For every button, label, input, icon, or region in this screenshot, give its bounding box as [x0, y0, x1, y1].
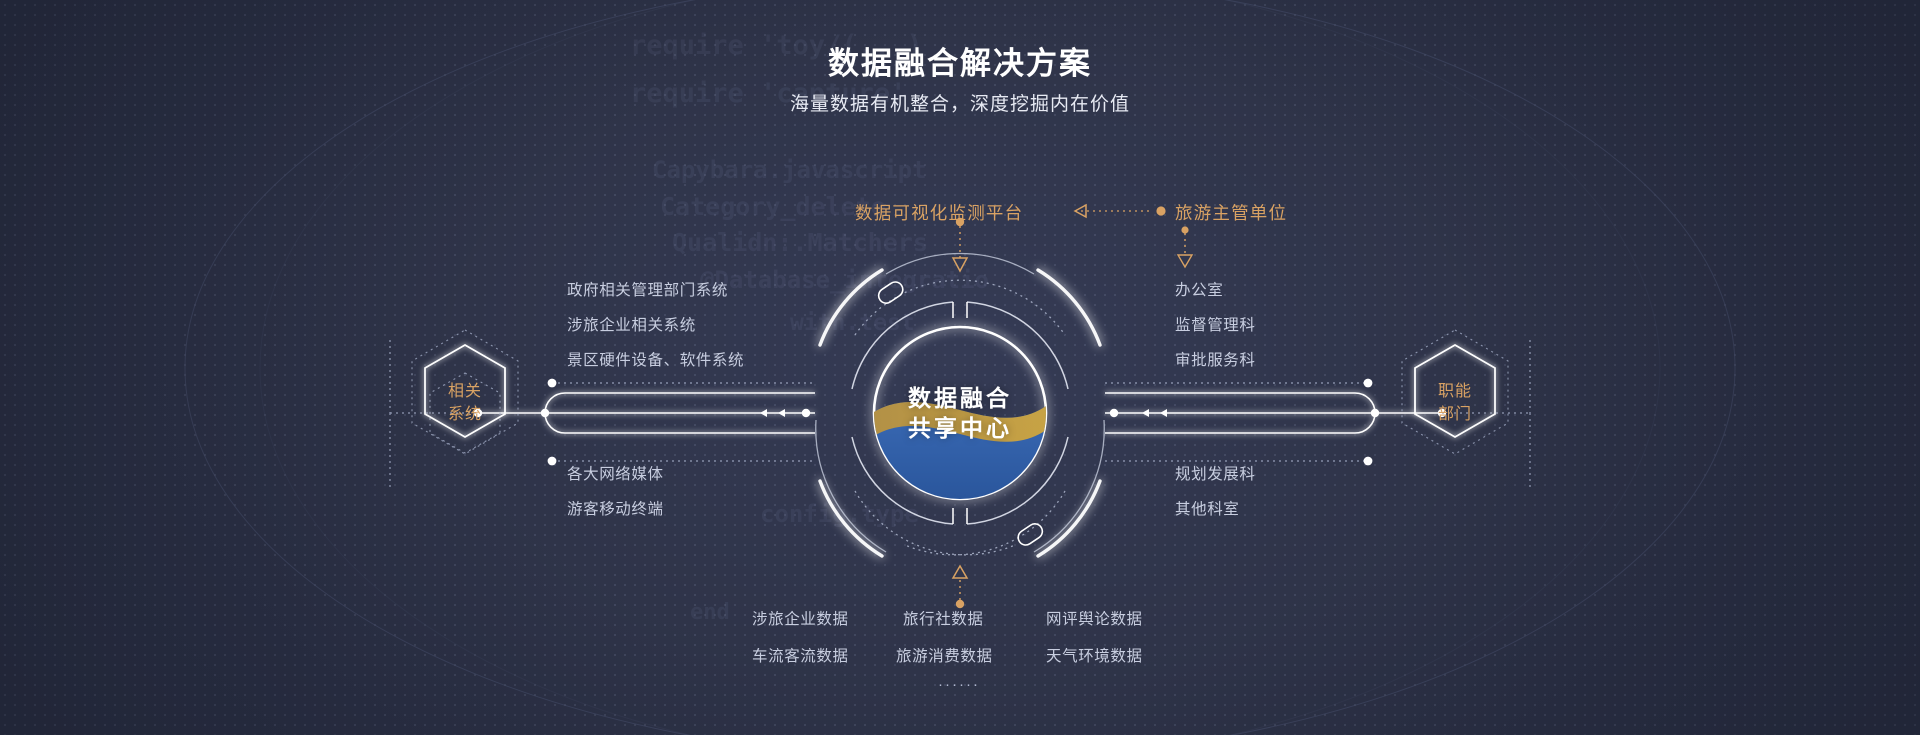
bottom-item-1: 旅行社数据	[903, 607, 984, 629]
authority-connector-arrow	[1178, 255, 1192, 267]
left-badge-line2: 系统	[448, 406, 482, 423]
right-channel	[1105, 393, 1442, 433]
left-feeder-dots	[548, 379, 557, 466]
bottom-item-5: 天气环境数据	[1046, 644, 1143, 666]
right-feeder-dots	[1364, 379, 1373, 466]
platform-link-dot	[1156, 206, 1165, 215]
right-badge-line1: 职能	[1438, 383, 1472, 400]
right-badge-label: 职能 部门	[1415, 380, 1495, 426]
left-item-2: 景区硬件设备、软件系统	[567, 348, 744, 370]
page-subtitle: 海量数据有机整合，深度挖掘内在价值	[0, 89, 1920, 116]
label-platform: 数据可视化监测平台	[855, 200, 1023, 225]
hub-label: 数据融合 共享中心	[860, 383, 1060, 443]
right-item-4: 其他科室	[1175, 497, 1239, 519]
left-badge-label: 相关 系统	[425, 380, 505, 426]
bottom-item-4: 旅游消费数据	[896, 644, 993, 666]
label-authority: 旅游主管单位	[1175, 200, 1287, 225]
right-item-1: 监督管理科	[1175, 313, 1256, 335]
infographic-canvas: require 'toy/(...) require 'capture' Cap…	[0, 0, 1920, 735]
right-item-0: 办公室	[1175, 278, 1223, 300]
right-item-2: 审批服务科	[1175, 348, 1256, 370]
left-item-0: 政府相关管理部门系统	[567, 278, 728, 300]
bottom-item-3: 车流客流数据	[752, 644, 849, 666]
bottom-ellipsis: ······	[938, 676, 980, 693]
right-badge-line2: 部门	[1438, 406, 1472, 423]
right-item-3: 规划发展科	[1175, 462, 1256, 484]
left-badge-line1: 相关	[448, 383, 482, 400]
left-item-3: 各大网络媒体	[567, 462, 664, 484]
top-connector-arrow	[953, 258, 967, 271]
ring-capsule-marker	[876, 279, 906, 306]
left-item-1: 涉旅企业相关系统	[567, 313, 696, 335]
page-title: 数据融合解决方案	[0, 38, 1920, 83]
bottom-item-0: 涉旅企业数据	[752, 607, 849, 629]
left-item-4: 游客移动终端	[567, 497, 664, 519]
authority-connector-dot	[1181, 226, 1188, 233]
bottom-item-2: 网评舆论数据	[1046, 607, 1143, 629]
bottom-connector-arrow	[953, 566, 967, 578]
ring-capsule-marker-lower	[1015, 521, 1045, 548]
hub-line1: 数据融合	[908, 385, 1012, 411]
hub-line2: 共享中心	[908, 415, 1012, 441]
